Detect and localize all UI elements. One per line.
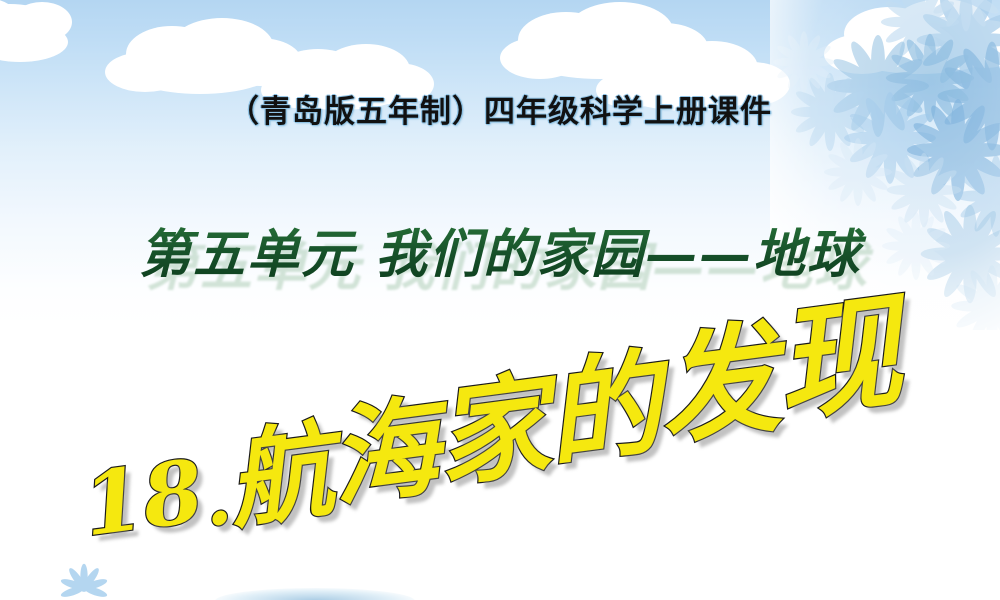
- unit-heading-text: 第五单元 我们的家园——地球: [0, 212, 1000, 287]
- cloud-top-right: [824, 0, 1000, 74]
- cloud-top-left-corner: [0, 0, 72, 62]
- title-char: 海: [324, 392, 445, 513]
- title-char: 的: [539, 345, 667, 473]
- subtitle-text: （青岛版五年制）四年级科学上册课件: [0, 86, 1000, 131]
- title-char: 8: [138, 448, 209, 541]
- title-char: 发: [651, 318, 786, 453]
- presentation-slide: （青岛版五年制）四年级科学上册课件 第五单元 我们的家园——地球 第五单元 我们…: [0, 0, 1000, 600]
- title-char: 航: [222, 417, 339, 534]
- title-char: 家: [430, 369, 556, 495]
- title-char: 现: [768, 290, 907, 429]
- title-char: 1: [78, 456, 149, 549]
